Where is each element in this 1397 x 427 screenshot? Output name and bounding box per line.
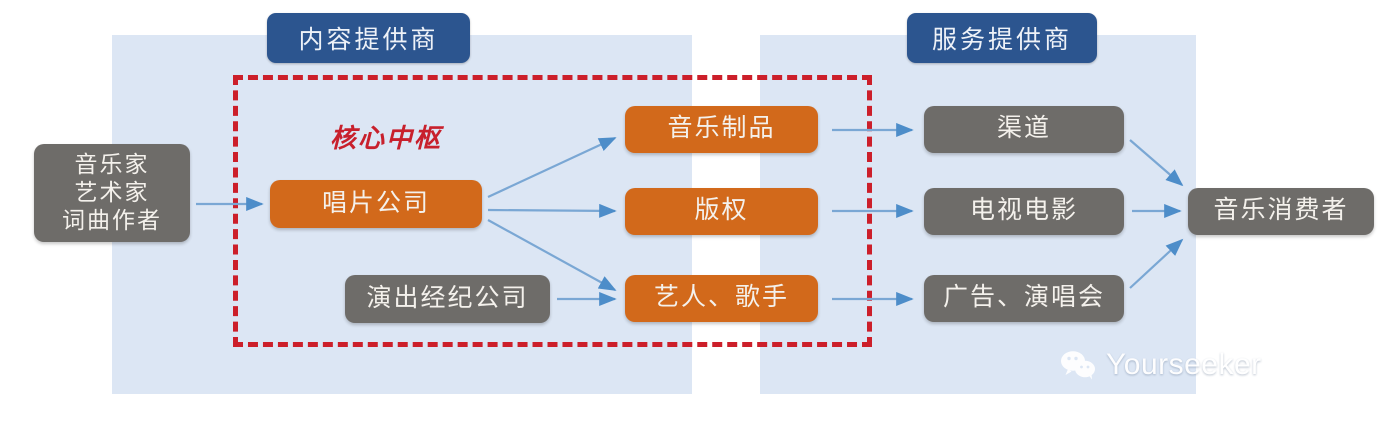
node-creators-line-2: 艺术家 <box>75 179 150 207</box>
node-music-consumer: 音乐消费者 <box>1188 188 1374 235</box>
diagram-canvas: 内容提供商 服务提供商 核心中枢 <box>0 0 1397 427</box>
node-creators-line-1: 音乐家 <box>75 151 150 179</box>
node-tv-film: 电视电影 <box>924 188 1124 235</box>
header-content-provider: 内容提供商 <box>267 13 470 63</box>
watermark-text: Yourseeker <box>1106 348 1262 382</box>
node-copyright: 版权 <box>625 188 818 235</box>
node-label-company: 唱片公司 <box>270 180 482 228</box>
node-channel: 渠道 <box>924 106 1124 153</box>
node-music-product: 音乐制品 <box>625 106 818 153</box>
watermark: Yourseeker <box>1060 348 1262 382</box>
wechat-icon <box>1060 350 1096 380</box>
node-ad-concert: 广告、演唱会 <box>924 275 1124 322</box>
node-creators: 音乐家 艺术家 词曲作者 <box>34 144 190 242</box>
header-service-provider: 服务提供商 <box>907 13 1097 63</box>
core-hub-annotation: 核心中枢 <box>330 118 442 155</box>
node-performance-agency: 演出经纪公司 <box>345 275 550 323</box>
node-artist-singer: 艺人、歌手 <box>625 275 818 322</box>
node-creators-line-3: 词曲作者 <box>62 207 162 235</box>
